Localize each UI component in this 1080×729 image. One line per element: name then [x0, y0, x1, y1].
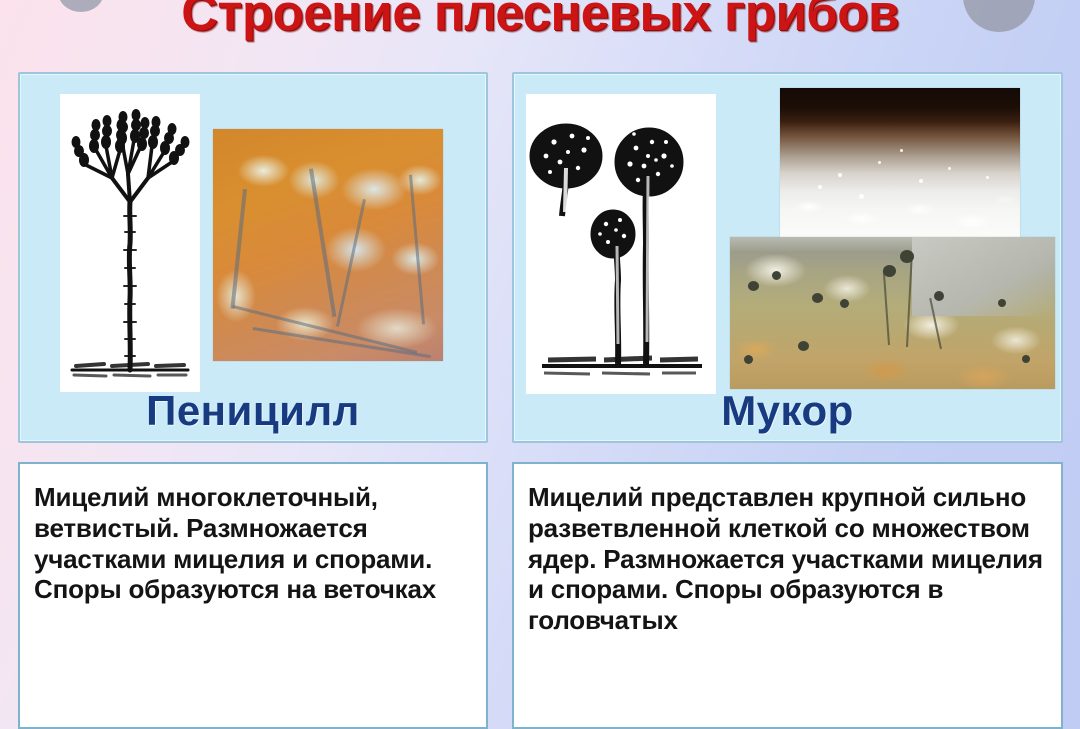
penicillium-description-card: Мицелий многоклеточный, ветвистый. Размн… [18, 462, 488, 729]
penicillium-micrograph [213, 129, 443, 361]
mucor-caption: Мукор [514, 387, 1061, 435]
mucor-description-card: Мицелий представлен крупной сильно разве… [512, 462, 1063, 729]
mucor-description-text: Мицелий представлен крупной сильно разве… [514, 464, 1061, 636]
penicillium-line-drawing [60, 94, 200, 392]
penicillium-caption: Пеницилл [20, 387, 486, 435]
page-title: Строение плесневых грибов [0, 0, 1080, 42]
mucor-picture-card: Мукор [512, 72, 1063, 443]
mucor-micrograph-top [780, 88, 1020, 240]
mucor-micrograph-bottom [730, 237, 1055, 389]
penicillium-picture-card: Пеницилл [18, 72, 488, 443]
slide-root: Строение плесневых грибов [0, 0, 1080, 729]
penicillium-description-text: Мицелий многоклеточный, ветвистый. Размн… [20, 464, 486, 605]
mucor-line-drawing [526, 94, 716, 394]
micrograph-background-blur [912, 237, 1055, 316]
